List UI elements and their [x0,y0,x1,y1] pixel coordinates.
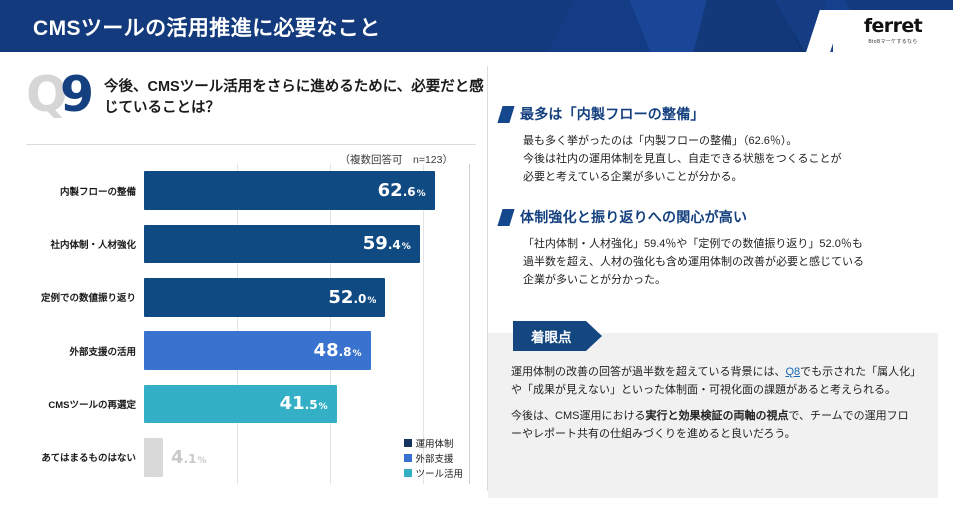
bar-value-label: 62.6% [378,180,435,201]
chart-row: CMSツールの再選定41.5% [144,377,469,430]
legend-label: 外部支援 [415,451,453,465]
category-label: 定例での数値振り返り [26,290,136,304]
legend-item: 運用体制 [404,436,463,450]
page-title: CMSツールの活用推進に必要なこと [33,12,380,42]
chart-row: 定例での数値振り返り52.0% [144,271,469,324]
right-column: 最多は「内製フローの整備」 最も多く挙がったのは「内製フローの整備」（62.6％… [500,52,945,512]
legend-swatch [404,454,412,462]
bar: 52.0% [144,278,385,316]
bar-value-label: 59.4% [363,233,420,254]
header-ray-decoration-3 [694,0,827,52]
chart-plot-area: 内製フローの整備62.6%社内体制・人材強化59.4%定例での数値振り返り52.… [144,164,470,484]
question-text: 今後、CMSツール活用をさらに進めるために、必要だと感じていることは？ [104,77,484,119]
insight-section-1: 最多は「内製フローの整備」 最も多く挙がったのは「内製フローの整備」（62.6％… [500,104,940,186]
bar: 41.5% [144,385,337,423]
category-label: あてはまるものはない [26,450,136,464]
legend-swatch [404,469,412,477]
bar-value-label: 52.0% [328,287,385,308]
q8-link[interactable]: Q8 [785,366,800,378]
focus-p2-text-a: 今後は、CMS運用における [511,410,645,422]
focus-paragraph-2: 今後は、CMS運用における実行と効果検証の両軸の視点で、チームでの運用フローやレ… [511,407,916,444]
insight-1-header: 最多は「内製フローの整備」 [500,104,940,124]
header-banner: CMSツールの活用推進に必要なこと ferret BtoBマーケするなら [0,0,953,52]
category-label: CMSツールの再選定 [26,397,136,411]
insight-1-body: 最も多く挙がったのは「内製フローの整備」（62.6％）。今後は社内の運用体制を見… [500,133,940,186]
slide-root: CMSツールの活用推進に必要なこと ferret BtoBマーケするなら Q 9… [0,0,953,512]
focus-paragraph-1: 運用体制の改善の回答が過半数を超えている背景には、Q8でも示された「属人化」や「… [511,363,916,400]
chart-row: 内製フローの整備62.6% [144,164,469,217]
bar-value-label: 41.5% [280,393,337,414]
insight-1-title: 最多は「内製フローの整備」 [520,104,705,124]
focus-p1-text-a: 運用体制の改善の回答が過半数を超えている背景には、 [511,366,785,378]
category-label: 外部支援の活用 [26,344,136,358]
slash-icon [497,106,514,123]
question-number: 9 [60,70,94,119]
insight-2-header: 体制強化と振り返りへの関心が高い [500,207,940,227]
legend-swatch [404,439,412,447]
chart-row: 社内体制・人材強化59.4% [144,217,469,270]
chart-legend: 運用体制外部支援ツール活用 [404,436,463,480]
logo-tagline: BtoBマーケするなら [868,38,917,45]
focus-p2-emphasis: 実行と効果検証の両軸の視点 [645,410,788,422]
question-block: Q 9 今後、CMSツール活用をさらに進めるために、必要だと感じていることは？ [26,74,476,132]
bar-value-label: 48.8% [314,340,371,361]
focus-card-body: 運用体制の改善の回答が過半数を超えている背景には、Q8でも示された「属人化」や「… [511,363,916,450]
legend-item: 外部支援 [404,451,463,465]
bar: 59.4% [144,225,420,263]
insight-2-title: 体制強化と振り返りへの関心が高い [520,207,747,227]
bar: 4.1% [144,438,163,476]
header-ray-decoration-1 [547,0,772,52]
category-label: 社内体制・人材強化 [26,237,136,251]
category-label: 内製フローの整備 [26,184,136,198]
slash-icon [497,209,514,226]
ferret-logo: ferret BtoBマーケするなら [833,10,953,52]
header-ray-decoration-2 [629,0,800,52]
bar-value-label: 4.1% [163,447,206,468]
focus-point-card: 着眼点 運用体制の改善の回答が過半数を超えている背景には、Q8でも示された「属人… [488,333,938,498]
legend-label: ツール活用 [415,466,463,480]
legend-item: ツール活用 [404,466,463,480]
section-divider [26,144,476,145]
focus-badge-wrap: 着眼点 [513,321,586,351]
bar-chart: 内製フローの整備62.6%社内体制・人材強化59.4%定例での数値振り返り52.… [26,164,478,484]
legend-label: 運用体制 [415,436,453,450]
insight-section-2: 体制強化と振り返りへの関心が高い 「社内体制・人材強化」59.4％や「定例での数… [500,207,940,289]
chart-row: 外部支援の活用48.8% [144,324,469,377]
focus-badge: 着眼点 [513,321,586,351]
bar: 62.6% [144,171,435,209]
insight-2-body: 「社内体制・人材強化」59.4％や「定例での数値振り返り」52.0％も過半数を超… [500,236,940,289]
logo-wordmark: ferret [864,17,922,36]
bar: 48.8% [144,331,371,369]
left-column: Q 9 今後、CMSツール活用をさらに進めるために、必要だと感じていることは？ … [0,52,487,512]
